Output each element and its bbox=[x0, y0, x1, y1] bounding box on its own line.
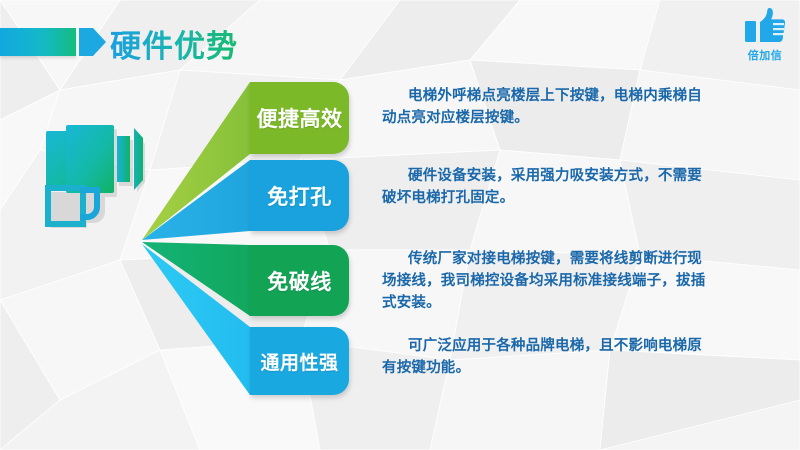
label-box-4[interactable]: 通用性强 bbox=[250, 327, 349, 395]
projection-rays bbox=[142, 82, 250, 395]
description-3: 传统厂家对接电梯按键，需要将线剪断进行现场接线，我司梯控设备均采用标准接线端子，… bbox=[382, 249, 712, 314]
label-box-2-text: 免打孔 bbox=[267, 181, 332, 211]
label-box-1[interactable]: 便捷高效 bbox=[250, 82, 349, 154]
description-2: 硬件设备安装，采用强力吸安装方式，不需要破坏电梯打孔固定。 bbox=[382, 166, 712, 210]
description-4: 可广泛应用于各种品牌电梯，且不影响电梯原有按键功能。 bbox=[382, 336, 712, 380]
page-title: 硬件优势 bbox=[110, 21, 238, 66]
label-box-2[interactable]: 免打孔 bbox=[250, 160, 349, 231]
thumbs-up-icon bbox=[743, 6, 787, 46]
projector-icon bbox=[46, 125, 145, 228]
brand-name: 倍加信 bbox=[738, 47, 792, 63]
label-box-3[interactable]: 免破线 bbox=[250, 245, 349, 316]
arrow-right-icon bbox=[79, 28, 106, 56]
brand-logo: 倍加信 bbox=[738, 6, 792, 64]
header-accent-bar bbox=[0, 28, 76, 56]
label-box-1-text: 便捷高效 bbox=[257, 103, 343, 133]
slide-canvas: 硬件优势 倍加信 bbox=[0, 0, 800, 450]
label-box-3-text: 免破线 bbox=[267, 266, 332, 296]
slide-header: 硬件优势 bbox=[0, 26, 260, 66]
label-box-4-text: 通用性强 bbox=[260, 348, 338, 375]
description-1: 电梯外呼梯点亮楼层上下按键，电梯内乘梯自动点亮对应楼层按键。 bbox=[382, 86, 712, 130]
